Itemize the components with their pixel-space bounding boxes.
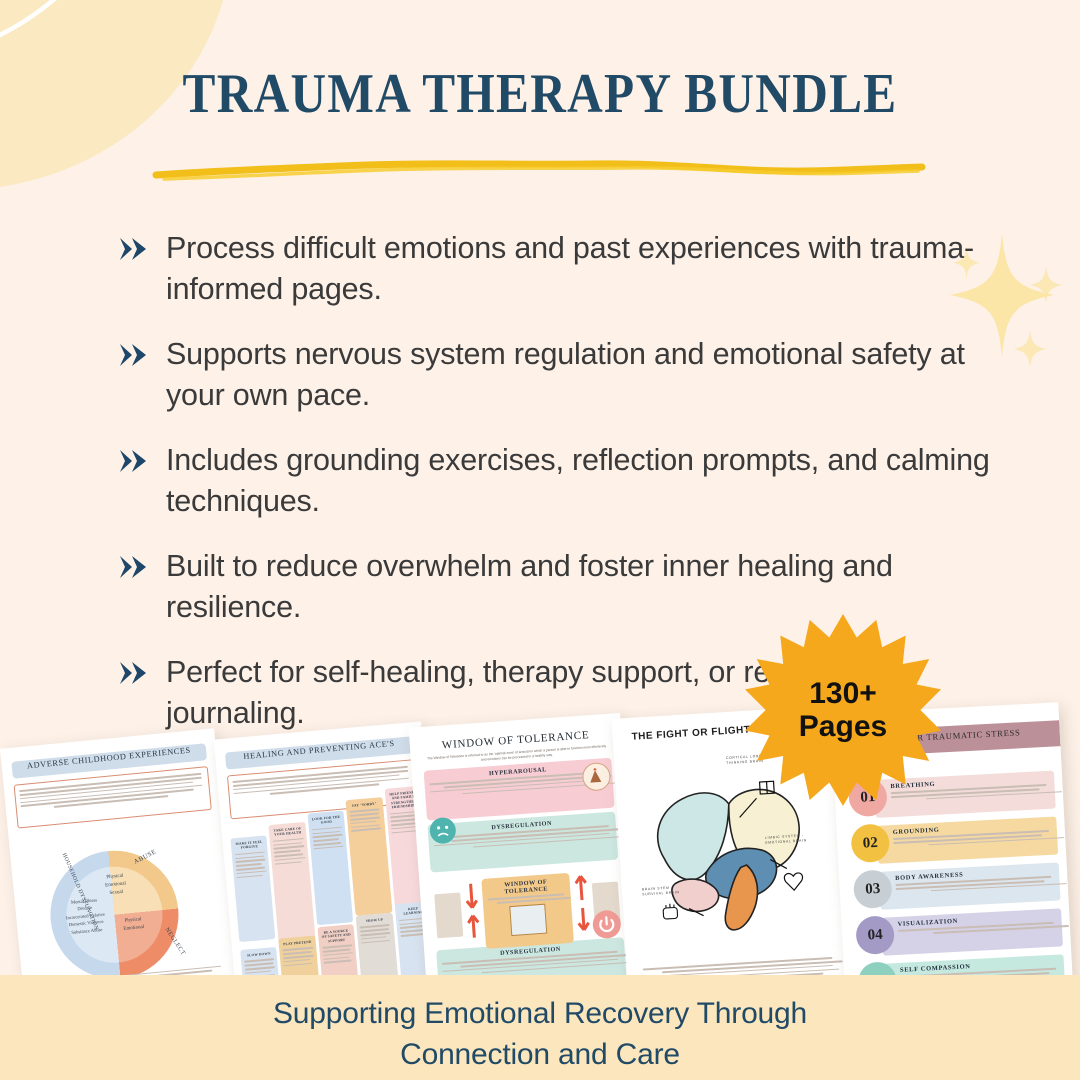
footer-text: Supporting Emotional Recovery Through Co… (0, 993, 1080, 1075)
sad-face-icon (429, 817, 457, 845)
badge-line-2: Pages (799, 710, 887, 743)
list-item-text: Includes grounding exercises, reflection… (166, 440, 998, 522)
mockup-page-healing-and-preventing-aces[interactable]: HEALING AND PREVENTING ACE'S MAKE IT FEE… (214, 721, 445, 1006)
badge-text: 130+ Pages (745, 612, 941, 808)
pages-count-badge: 130+ Pages (745, 612, 941, 808)
arrow-down-icon (464, 881, 480, 940)
double-chevron-icon (118, 334, 166, 368)
double-chevron-icon (118, 652, 166, 686)
footer-banner: Supporting Emotional Recovery Through Co… (0, 975, 1080, 1080)
mockup-page-window-of-tolerance[interactable]: WINDOW OF TOLERANCE The Window of Tolera… (409, 713, 640, 1005)
tool-row: GROUNDING 02 (850, 813, 1058, 866)
double-chevron-icon (118, 546, 166, 580)
badge-line-1: 130+ (809, 677, 877, 710)
double-chevron-icon (118, 440, 166, 474)
triggers-box (434, 893, 463, 939)
brush-underline-icon (150, 148, 930, 188)
list-item: Process difficult emotions and past expe… (118, 228, 998, 310)
list-item: Supports nervous system regulation and e… (118, 334, 998, 416)
tool-band: BODY AWARENESS (879, 862, 1061, 909)
footer-line-1: Supporting Emotional Recovery Through (0, 993, 1080, 1034)
list-item-text: Process difficult emotions and past expe… (166, 228, 998, 310)
pie-slice-items-household: Mental IllnessDivorceIncarcerated Relati… (53, 895, 118, 938)
poster-canvas: TRAUMA THERAPY BUNDLE Process difficult … (0, 0, 1080, 1080)
tool-band: VISUALIZATION (881, 908, 1063, 955)
tool-band: GROUNDING (876, 816, 1058, 863)
band-window-of-tolerance: WINDOW OF TOLERANCE (481, 873, 574, 949)
page-title: TRAUMA THERAPY BUNDLE (65, 62, 1015, 126)
tool-row: VISUALIZATION 04 (855, 904, 1063, 957)
arrow-up-icon (574, 874, 590, 933)
mockup-page-adverse-childhood-experiences[interactable]: ADVERSE CHILDHOOD EXPERIENCES ABUSE NEGL… (0, 728, 239, 1007)
power-icon (592, 909, 622, 939)
double-chevron-icon (118, 228, 166, 262)
list-item-text: Supports nervous system regulation and e… (166, 334, 998, 416)
healing-col: SAY "SORRY" (346, 797, 392, 916)
footer-line-2: Connection and Care (0, 1034, 1080, 1075)
tool-row: BODY AWARENESS 03 (853, 858, 1061, 911)
list-item: Includes grounding exercises, reflection… (118, 440, 998, 522)
